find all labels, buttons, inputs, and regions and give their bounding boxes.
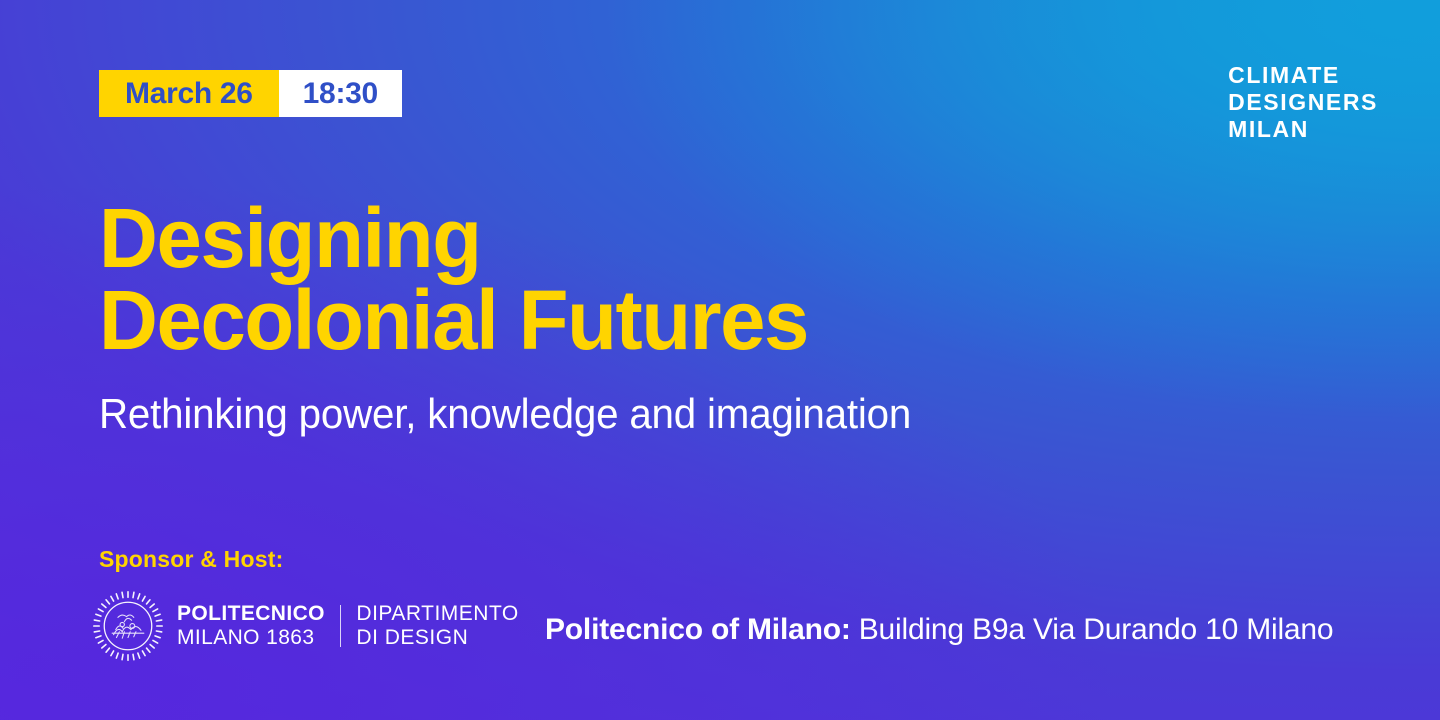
event-title: Designing Decolonial Futures <box>99 197 808 362</box>
date-time-badge: March 26 18:30 <box>99 70 402 117</box>
logo-divider <box>340 605 342 647</box>
event-poster: March 26 18:30 CLIMATE DESIGNERS MILAN D… <box>0 0 1440 720</box>
department-line-2: DI DESIGN <box>356 626 518 650</box>
venue-label: Politecnico of Milano: <box>545 613 851 646</box>
venue-info: Politecnico of Milano: Building B9a Via … <box>545 612 1333 648</box>
brand-line-1: CLIMATE <box>1228 62 1378 89</box>
sponsor-host-label: Sponsor & Host: <box>99 546 283 573</box>
politecnico-logo: POLITECNICO MILANO 1863 DIPARTIMENTO DI … <box>92 590 519 662</box>
event-subtitle: Rethinking power, knowledge and imaginat… <box>99 389 911 439</box>
venue-address: Building B9a Via Durando 10 Milano <box>859 613 1334 646</box>
politecnico-name: POLITECNICO MILANO 1863 <box>177 602 325 650</box>
event-title-line-1: Designing <box>99 197 808 279</box>
event-title-line-2: Decolonial Futures <box>99 279 808 361</box>
politecnico-name-top: POLITECNICO <box>177 602 325 626</box>
politecnico-wordmark: POLITECNICO MILANO 1863 DIPARTIMENTO DI … <box>177 602 519 650</box>
politecnico-name-bottom: MILANO 1863 <box>177 626 325 650</box>
event-date: March 26 <box>99 70 279 117</box>
brand-line-3: MILAN <box>1228 116 1378 143</box>
event-time: 18:30 <box>279 70 402 117</box>
brand-line-2: DESIGNERS <box>1228 89 1378 116</box>
politecnico-seal-icon <box>92 590 164 662</box>
politecnico-department: DIPARTIMENTO DI DESIGN <box>356 602 518 650</box>
department-line-1: DIPARTIMENTO <box>356 602 518 626</box>
organization-logo: CLIMATE DESIGNERS MILAN <box>1228 62 1378 143</box>
